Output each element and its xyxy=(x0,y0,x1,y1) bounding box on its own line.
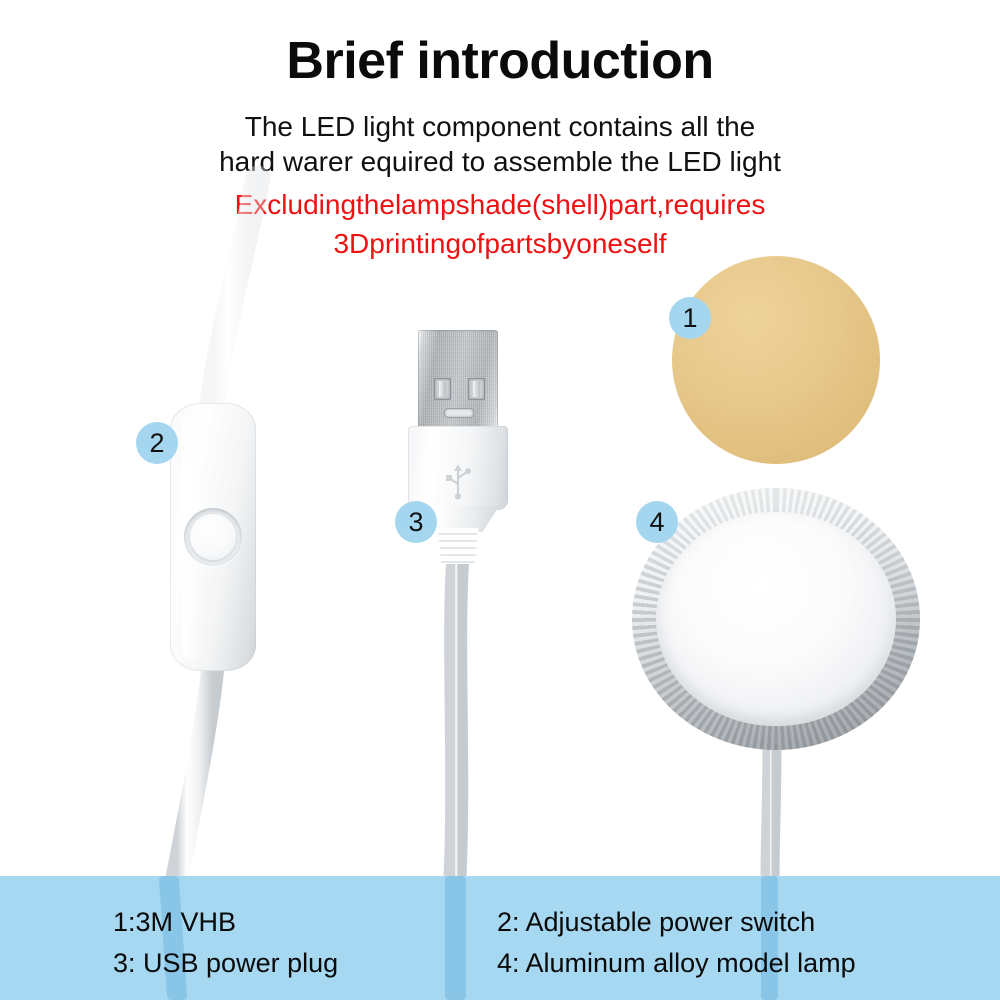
legend-item-1: 1:3M VHB xyxy=(113,902,338,943)
vhb-adhesive-pad xyxy=(672,256,880,464)
legend-item-4: 4: Aluminum alloy model lamp xyxy=(497,943,856,984)
usb-contact-slot-left xyxy=(434,378,451,400)
badge-1: 1 xyxy=(669,297,711,339)
lamp-diffuser-lens xyxy=(656,512,895,727)
power-switch-body xyxy=(170,403,256,671)
usb-contact-slot-right xyxy=(468,378,485,400)
badge-3: 3 xyxy=(395,501,437,543)
usb-strain-relief xyxy=(436,528,480,564)
switch-push-button[interactable] xyxy=(190,514,236,560)
cable-usb-to-bottom xyxy=(455,556,458,878)
legend-item-3: 3: USB power plug xyxy=(113,943,338,984)
usb-trident-icon xyxy=(441,460,475,500)
cable-top-to-switch xyxy=(212,178,258,404)
legend-left-column: 1:3M VHB 3: USB power plug xyxy=(113,902,338,984)
usb-contact-fin-left xyxy=(439,381,446,397)
badge-4: 4 xyxy=(636,501,678,543)
product-infographic: Brief introduction The LED light compone… xyxy=(0,0,1000,1000)
usb-lower-notch xyxy=(444,408,474,418)
legend-right-column: 2: Adjustable power switch 4: Aluminum a… xyxy=(497,902,856,984)
switch-button-well xyxy=(184,508,242,566)
cable-tint-center xyxy=(445,876,466,1000)
cable-lamp-to-bottom xyxy=(770,742,772,878)
badge-2: 2 xyxy=(136,422,178,464)
usb-contact-fin-right xyxy=(473,381,480,397)
legend-item-2: 2: Adjustable power switch xyxy=(497,902,856,943)
usb-plastic-body xyxy=(408,426,508,510)
cable-switch-to-bottom xyxy=(177,666,213,878)
